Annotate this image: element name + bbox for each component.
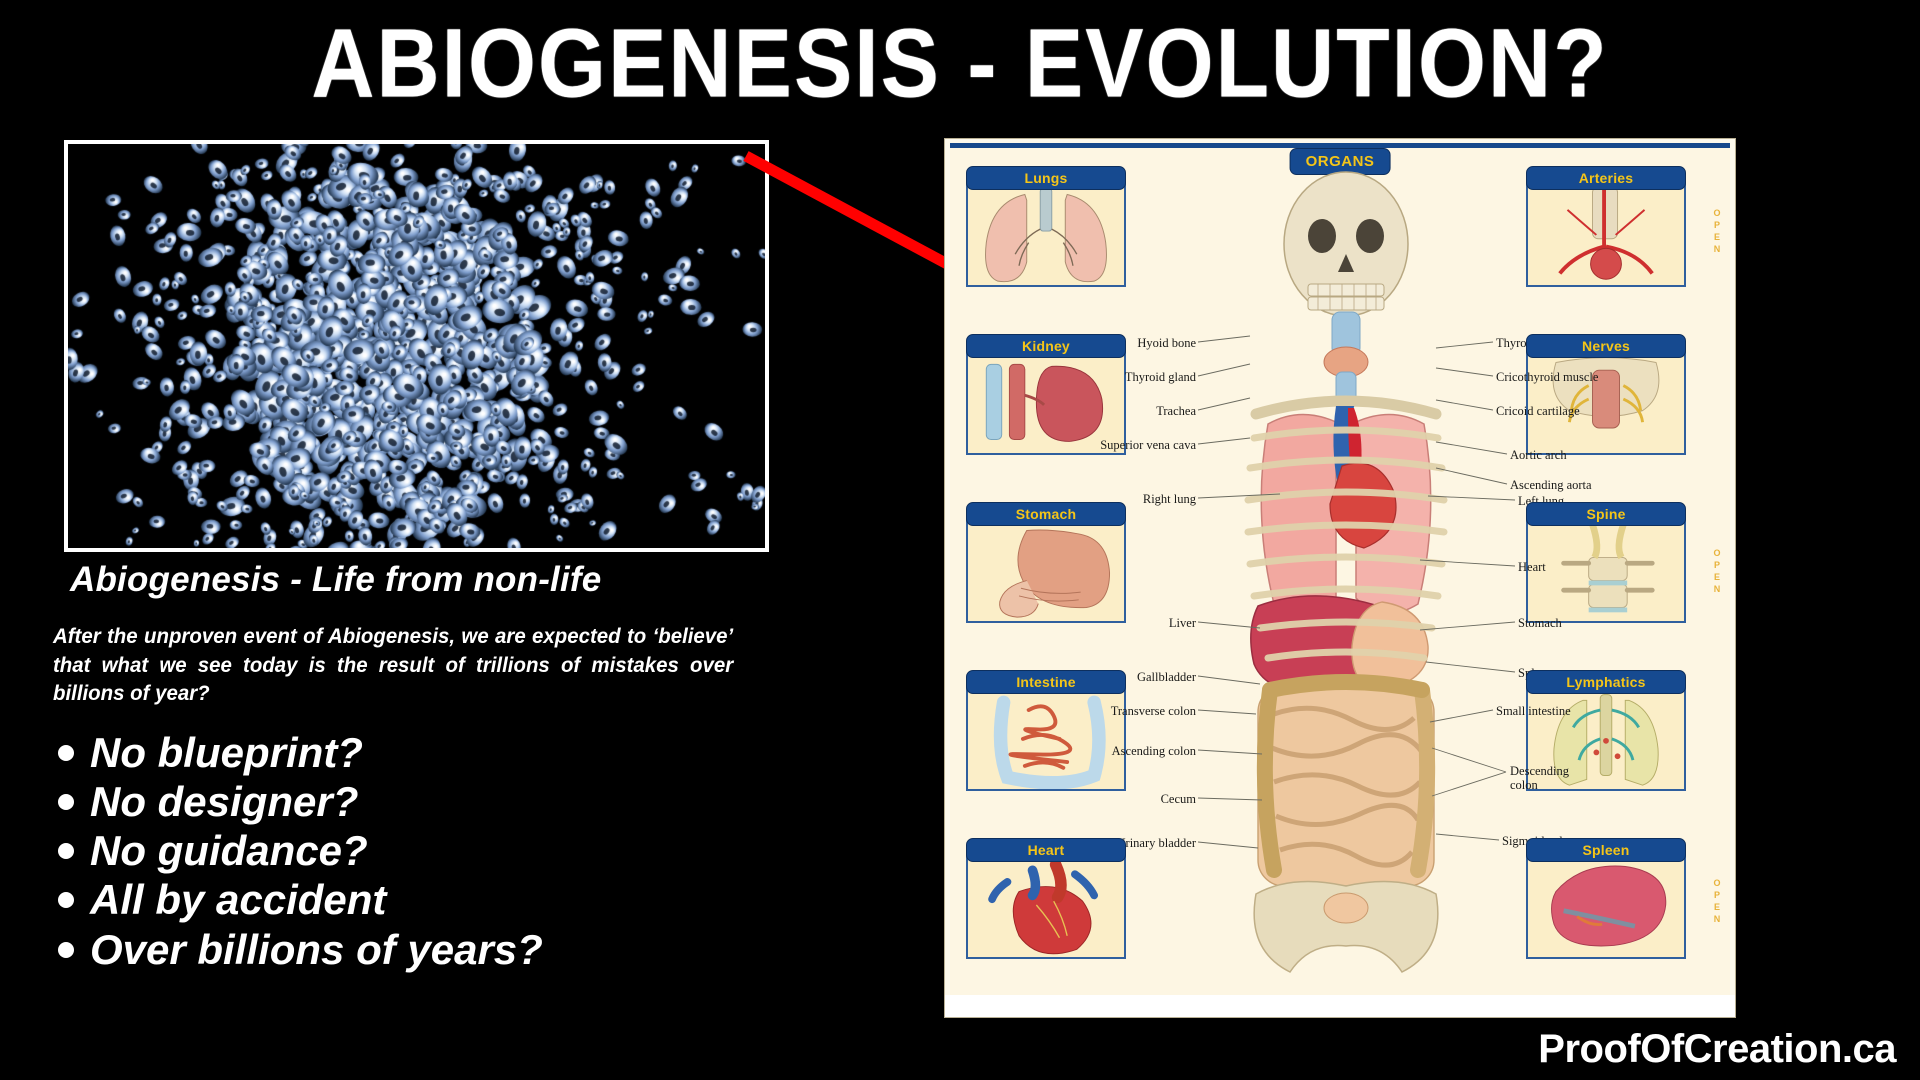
bullet-text: No blueprint? [90,729,363,776]
nerves-icon [1528,349,1684,453]
spleen-icon [1528,853,1684,957]
human-torso-illustration [1196,166,1496,986]
anno-superior-vena-cava: Superior vena cava [1046,438,1196,453]
body-paragraph: After the unproven event of Abiogenesis,… [53,622,733,708]
bullet-dot-icon [58,843,74,859]
open-tab-marker[interactable]: OPEN [1708,548,1722,596]
panel-label: Arteries [1526,166,1686,190]
list-item: No guidance? [58,826,838,875]
panel-label: Heart [966,838,1126,862]
list-item: No blueprint? [58,728,838,777]
cell-cluster-canvas [68,144,765,548]
list-item: Over billions of years? [58,925,838,974]
bullet-dot-icon [58,794,74,810]
slide-root: ABIOGENESIS - EVOLUTION? Abiogenesis - L… [0,0,1920,1080]
bullet-text: No guidance? [90,827,368,874]
bullet-list: No blueprint? No designer? No guidance? … [58,728,838,974]
anno-cecum: Cecum [1108,792,1196,807]
brand-footer: ProofOfCreation.ca [1538,1027,1896,1072]
poster-bottom-edge [945,995,1735,1017]
bullet-text: Over billions of years? [90,926,543,973]
bullet-dot-icon [58,892,74,908]
arteries-icon [1528,181,1684,285]
anno-descending-colon: Descending colon [1510,764,1574,793]
panel-illustration-stomach [966,515,1126,623]
panel-label: Spleen [1526,838,1686,862]
anno-small-intestine: Small intestine [1496,704,1571,719]
list-item: All by accident [58,875,838,924]
spine-icon [1528,517,1684,621]
open-tab-marker[interactable]: OPEN [1708,878,1722,926]
bullet-text: No designer? [90,778,358,825]
panel-illustration-intestine [966,683,1126,791]
panel-label: Stomach [966,502,1126,526]
panel-label: Intestine [966,670,1126,694]
anatomy-poster: ORGANS [944,138,1736,1018]
panel-illustration-lungs [966,179,1126,287]
bullet-text: All by accident [90,876,386,923]
anno-cricoid-cartilage: Cricoid cartilage [1496,404,1580,419]
panel-label: Spine [1526,502,1686,526]
lungs-icon [968,181,1124,285]
anno-ascending-colon: Ascending colon [1062,744,1196,759]
panel-illustration-arteries [1526,179,1686,287]
page-title: ABIOGENESIS - EVOLUTION? [0,14,1920,111]
panel-label: Nerves [1526,334,1686,358]
anno-transverse-colon: Transverse colon [1060,704,1196,719]
anno-liver: Liver [1100,616,1196,631]
anno-heart: Heart [1518,560,1546,575]
open-tab-marker[interactable]: OPEN [1708,208,1722,256]
anno-thyroid-gland: Thyroid gland [1080,370,1196,385]
heart-icon [968,853,1124,957]
anno-cricothyroid-muscle: Cricothyroid muscle [1496,370,1598,385]
panel-label: Lymphatics [1526,670,1686,694]
image-caption: Abiogenesis - Life from non-life [70,560,760,600]
panel-label: Lungs [966,166,1126,190]
bullet-dot-icon [58,745,74,761]
anno-ascending-aorta: Ascending aorta [1510,478,1592,493]
anno-trachea: Trachea [1080,404,1196,419]
poster-body: ORGANS [950,148,1730,995]
panel-illustration-spleen [1526,851,1686,959]
intestine-icon [968,685,1124,789]
anno-aortic-arch: Aortic arch [1510,448,1567,463]
bullet-dot-icon [58,942,74,958]
list-item: No designer? [58,777,838,826]
panel-illustration-spine [1526,515,1686,623]
panel-label: Kidney [966,334,1126,358]
anno-stomach: Stomach [1518,616,1562,631]
panel-illustration-nerves [1526,347,1686,455]
stomach-icon [968,517,1124,621]
cell-cluster-photo [64,140,769,552]
panel-illustration-heart [966,851,1126,959]
